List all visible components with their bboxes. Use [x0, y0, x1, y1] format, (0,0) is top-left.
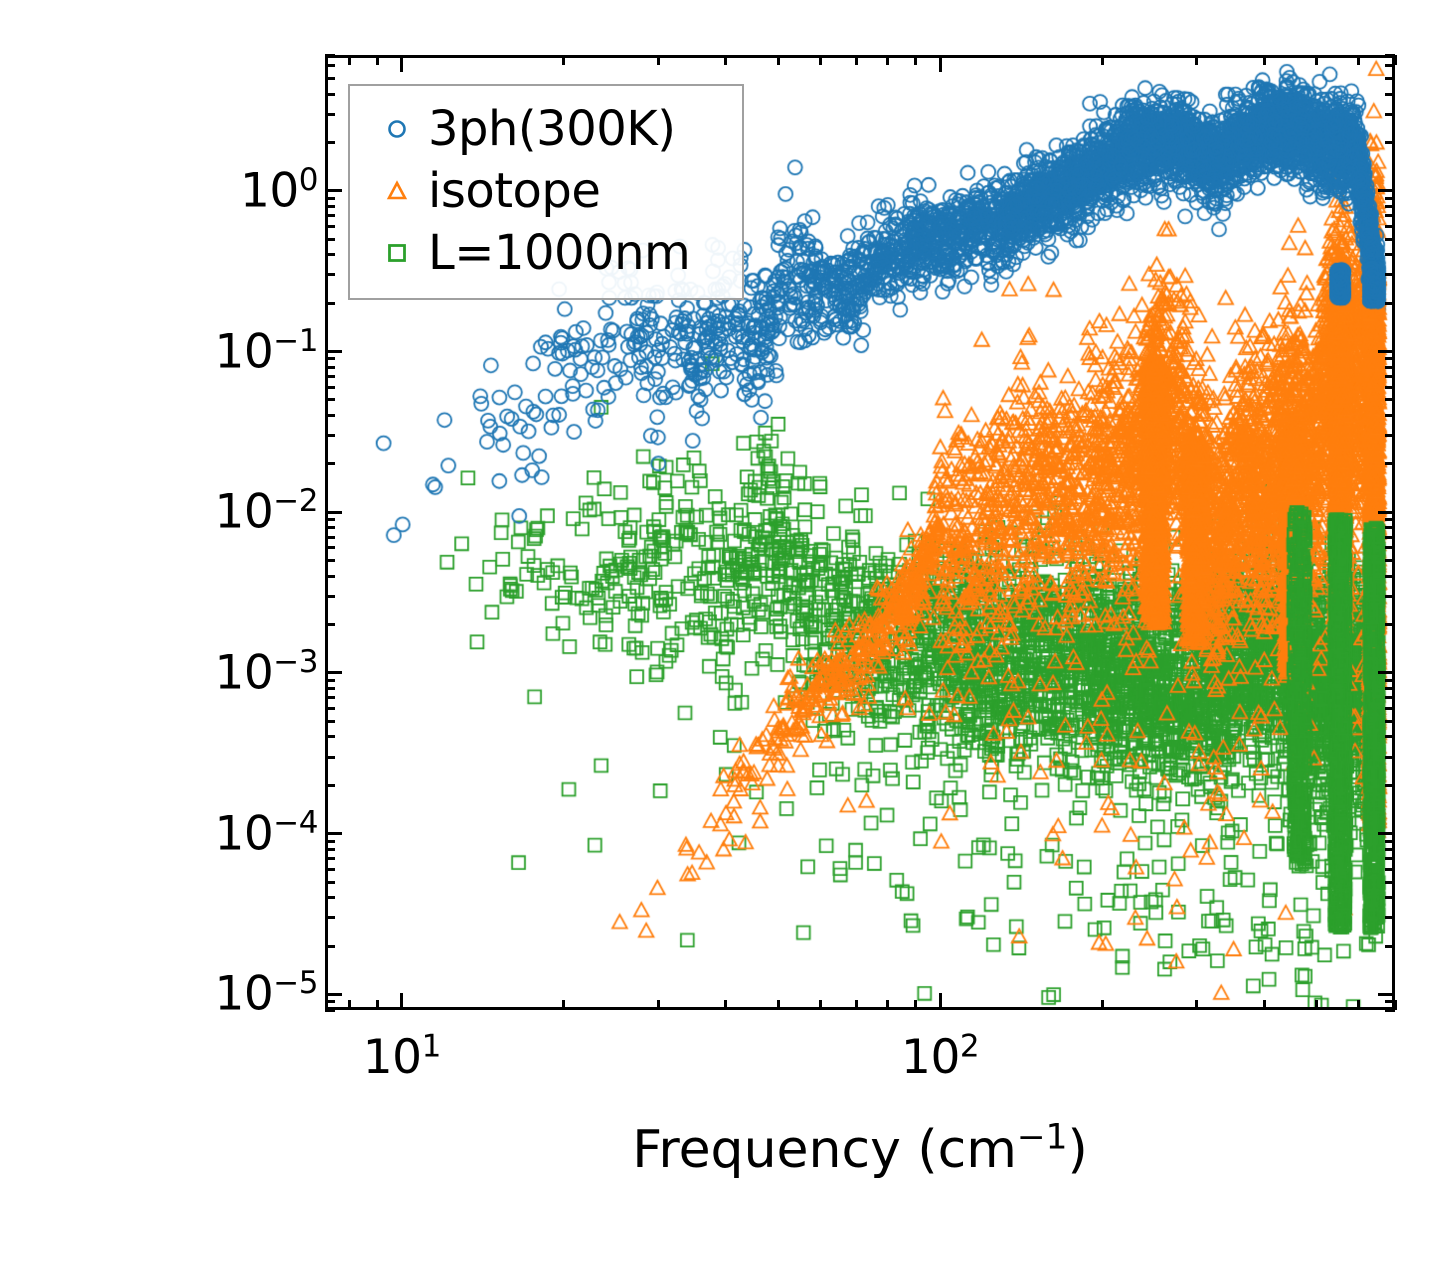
tick-mark	[325, 511, 342, 514]
tick-mark	[325, 696, 335, 699]
tick-mark	[325, 868, 335, 871]
tick-mark	[1385, 518, 1395, 521]
tick-mark	[325, 1009, 335, 1012]
tick-mark	[819, 55, 822, 65]
triangle-marker-icon	[366, 179, 428, 203]
tick-mark	[1385, 687, 1395, 690]
tick-mark	[325, 1000, 335, 1003]
tick-mark	[325, 273, 335, 276]
y-tick-label: 10−5	[214, 967, 318, 1022]
y-tick-label: 10−1	[214, 324, 318, 379]
x-axis-label: Frequency (cm−1)	[325, 1120, 1395, 1180]
tick-mark	[325, 77, 335, 80]
tick-mark	[325, 840, 335, 843]
tick-mark	[1385, 434, 1395, 437]
tick-mark	[1385, 707, 1395, 710]
tick-mark	[1385, 357, 1395, 360]
tick-mark	[325, 993, 342, 996]
tick-mark	[325, 350, 342, 353]
tick-mark	[1385, 366, 1395, 369]
tick-mark	[1385, 93, 1395, 96]
tick-mark	[1394, 1000, 1397, 1010]
tick-mark	[657, 55, 660, 65]
tick-mark	[325, 848, 335, 851]
tick-mark	[1385, 205, 1395, 208]
tick-mark	[1385, 679, 1395, 682]
tick-mark	[1195, 55, 1198, 65]
tick-mark	[1385, 214, 1395, 217]
tick-mark	[325, 141, 335, 144]
tick-mark	[1394, 55, 1397, 65]
legend-item-3ph[interactable]: 3ph(300K)	[366, 98, 726, 160]
tick-mark	[777, 1000, 780, 1010]
tick-mark	[1385, 141, 1395, 144]
tick-mark	[325, 357, 335, 360]
tick-mark	[819, 1000, 822, 1010]
tick-mark	[1385, 945, 1395, 948]
tick-mark	[325, 536, 335, 539]
tick-mark	[1385, 696, 1395, 699]
tick-mark	[724, 55, 727, 65]
tick-mark	[325, 687, 335, 690]
x-axis-label-main: Frequency (cm	[632, 1120, 1017, 1180]
tick-mark	[1315, 55, 1318, 65]
tick-mark	[325, 707, 335, 710]
x-axis-label-tail: )	[1068, 1120, 1088, 1180]
tick-mark	[325, 623, 335, 626]
tick-mark	[325, 398, 335, 401]
tick-mark	[325, 54, 335, 57]
tick-mark	[1385, 916, 1395, 919]
tick-mark	[400, 55, 403, 72]
tick-mark	[1378, 993, 1395, 996]
tick-mark	[325, 197, 335, 200]
tick-mark	[1385, 113, 1395, 116]
tick-mark	[1378, 832, 1395, 835]
tick-mark	[325, 302, 335, 305]
tick-mark	[325, 414, 335, 417]
tick-mark	[325, 735, 335, 738]
tick-mark	[1385, 273, 1395, 276]
tick-mark	[939, 993, 942, 1010]
tick-mark	[1263, 55, 1266, 65]
tick-mark	[325, 225, 335, 228]
tick-mark	[325, 375, 335, 378]
tick-mark	[325, 113, 335, 116]
tick-mark	[325, 238, 335, 241]
tick-mark	[325, 189, 342, 192]
tick-mark	[657, 1000, 660, 1010]
tick-mark	[1101, 1000, 1104, 1010]
tick-mark	[1378, 671, 1395, 674]
tick-mark	[1385, 840, 1395, 843]
x-tick-label: 101	[363, 1030, 441, 1085]
tick-mark	[1385, 881, 1395, 884]
y-tick-label: 10−2	[214, 485, 318, 540]
tick-mark	[325, 64, 335, 67]
tick-mark	[886, 1000, 889, 1010]
tick-mark	[855, 55, 858, 65]
tick-mark	[724, 1000, 727, 1010]
tick-mark	[1385, 720, 1395, 723]
square-marker-icon	[366, 241, 428, 265]
tick-mark	[376, 1000, 379, 1010]
circle-marker-icon	[366, 117, 428, 141]
tick-mark	[1385, 857, 1395, 860]
y-tick-label: 10−4	[214, 806, 318, 861]
tick-mark	[325, 720, 335, 723]
x-tick-label: 102	[901, 1030, 979, 1085]
tick-mark	[1385, 559, 1395, 562]
tick-mark	[325, 366, 335, 369]
tick-mark	[325, 857, 335, 860]
tick-mark	[325, 832, 342, 835]
legend[interactable]: 3ph(300K) isotope L=1000nm	[348, 84, 744, 300]
tick-mark	[1378, 511, 1395, 514]
tick-mark	[1263, 1000, 1266, 1010]
tick-mark	[1385, 197, 1395, 200]
tick-mark	[1385, 546, 1395, 549]
tick-mark	[325, 93, 335, 96]
tick-mark	[1315, 1000, 1318, 1010]
tick-mark	[1385, 398, 1395, 401]
tick-mark	[1195, 1000, 1198, 1010]
tick-mark	[348, 55, 351, 65]
tick-mark	[325, 386, 335, 389]
tick-mark	[325, 896, 335, 899]
tick-mark	[325, 916, 335, 919]
tick-mark	[1385, 526, 1395, 529]
tick-mark	[1101, 55, 1104, 65]
tick-mark	[325, 945, 335, 948]
tick-mark	[886, 55, 889, 65]
tick-mark	[1385, 536, 1395, 539]
tick-mark	[1385, 735, 1395, 738]
tick-mark	[1357, 55, 1360, 65]
tick-mark	[1385, 462, 1395, 465]
tick-mark	[1385, 386, 1395, 389]
tick-mark	[1357, 1000, 1360, 1010]
legend-label-3ph: 3ph(300K)	[428, 101, 675, 157]
tick-mark	[914, 55, 917, 65]
tick-mark	[1385, 225, 1395, 228]
tick-mark	[325, 595, 335, 598]
tick-mark	[325, 546, 335, 549]
tick-mark	[1385, 595, 1395, 598]
figure: 10010−110−210−310−410−5101102 Frequency …	[0, 0, 1455, 1265]
tick-mark	[1385, 896, 1395, 899]
tick-mark	[325, 679, 335, 682]
tick-mark	[1385, 848, 1395, 851]
tick-mark	[1385, 868, 1395, 871]
tick-mark	[325, 253, 335, 256]
legend-item-length[interactable]: L=1000nm	[366, 222, 726, 284]
tick-mark	[1385, 253, 1395, 256]
y-tick-label: 10−3	[214, 645, 318, 700]
tick-mark	[1385, 575, 1395, 578]
tick-mark	[1378, 189, 1395, 192]
tick-mark	[1385, 375, 1395, 378]
tick-mark	[914, 1000, 917, 1010]
tick-mark	[325, 205, 335, 208]
tick-mark	[1385, 414, 1395, 417]
tick-mark	[562, 1000, 565, 1010]
x-axis-label-exponent: −1	[1017, 1118, 1068, 1158]
tick-mark	[939, 55, 942, 72]
tick-mark	[325, 575, 335, 578]
tick-mark	[1385, 77, 1395, 80]
tick-mark	[325, 462, 335, 465]
tick-mark	[325, 559, 335, 562]
tick-mark	[376, 55, 379, 65]
tick-mark	[325, 671, 342, 674]
tick-mark	[348, 1000, 351, 1010]
tick-mark	[400, 993, 403, 1010]
legend-label-length: L=1000nm	[428, 225, 690, 281]
tick-mark	[1385, 302, 1395, 305]
tick-mark	[1378, 350, 1395, 353]
tick-mark	[325, 881, 335, 884]
tick-mark	[1385, 756, 1395, 759]
tick-mark	[1385, 238, 1395, 241]
tick-mark	[1385, 784, 1395, 787]
tick-mark	[325, 434, 335, 437]
legend-label-isotope: isotope	[428, 163, 600, 219]
tick-mark	[562, 55, 565, 65]
tick-mark	[325, 526, 335, 529]
tick-mark	[777, 55, 780, 65]
tick-mark	[325, 518, 335, 521]
tick-mark	[325, 784, 335, 787]
tick-mark	[325, 214, 335, 217]
tick-mark	[855, 1000, 858, 1010]
tick-mark	[1385, 623, 1395, 626]
tick-mark	[325, 756, 335, 759]
legend-item-isotope[interactable]: isotope	[366, 160, 726, 222]
y-tick-label: 100	[240, 163, 318, 218]
